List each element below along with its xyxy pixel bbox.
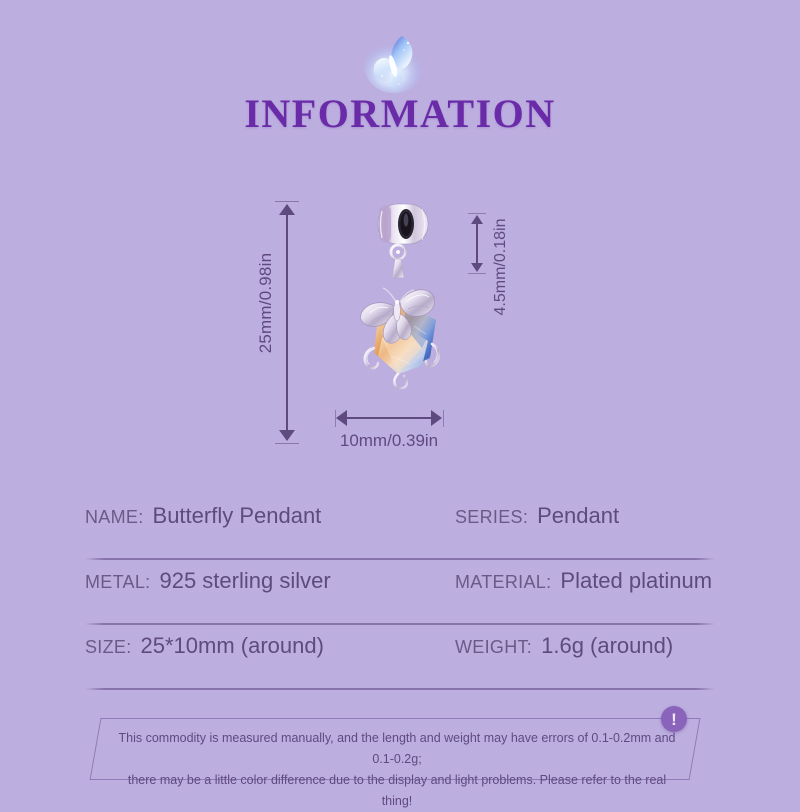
spec-row: NAME: Butterfly Pendant SERIES: Pendant bbox=[0, 495, 800, 560]
dimension-height-arrow-up bbox=[279, 204, 295, 215]
spec-name-label: NAME: bbox=[85, 507, 144, 528]
dimension-height-arrow-down bbox=[279, 430, 295, 441]
dimension-bail-tick-top bbox=[468, 213, 486, 214]
spec-divider bbox=[85, 688, 715, 690]
dimension-height-label: 25mm/0.98in bbox=[256, 223, 276, 383]
spec-weight-label: WEIGHT: bbox=[455, 637, 532, 658]
spec-weight: WEIGHT: 1.6g (around) bbox=[455, 633, 673, 659]
disclaimer-line-2: there may be a little color difference d… bbox=[117, 770, 677, 812]
dimension-width-arrow-right bbox=[431, 410, 442, 426]
dimension-bail-label: 4.5mm/0.18in bbox=[492, 207, 510, 327]
butterfly-pendant-photo bbox=[348, 198, 456, 408]
spec-series: SERIES: Pendant bbox=[455, 503, 619, 529]
dimension-width-label: 10mm/0.39in bbox=[314, 431, 464, 451]
spec-metal-value: 925 sterling silver bbox=[159, 568, 330, 594]
dimension-width-tick-right bbox=[443, 410, 444, 427]
dimension-bail-arrow-up bbox=[471, 215, 483, 224]
product-measurement-area: 25mm/0.98in 4.5mm/0.18in bbox=[0, 160, 800, 490]
spec-size-value: 25*10mm (around) bbox=[141, 633, 324, 659]
dimension-bail-tick-bottom bbox=[468, 273, 486, 274]
butterfly-icon bbox=[358, 26, 434, 98]
page-title: INFORMATION bbox=[0, 90, 800, 137]
dimension-bail-line bbox=[476, 222, 478, 268]
dimension-height-line bbox=[286, 205, 288, 440]
spec-weight-value: 1.6g (around) bbox=[541, 633, 673, 659]
spec-material-label: MATERIAL: bbox=[455, 572, 551, 593]
dimension-width-line bbox=[344, 417, 438, 419]
dimension-height-tick-top bbox=[275, 201, 299, 202]
exclamation-icon: ! bbox=[661, 706, 687, 732]
dimension-bail-arrow-down bbox=[471, 263, 483, 272]
spec-series-value: Pendant bbox=[537, 503, 619, 529]
dimension-height: 25mm/0.98in bbox=[248, 205, 304, 440]
dimension-bail-height: 4.5mm/0.18in bbox=[466, 208, 522, 318]
spec-metal-label: METAL: bbox=[85, 572, 150, 593]
spec-row: METAL: 925 sterling silver MATERIAL: Pla… bbox=[0, 560, 800, 625]
spec-material-value: Plated platinum bbox=[560, 568, 712, 594]
spec-name: NAME: Butterfly Pendant bbox=[85, 503, 321, 529]
dimension-width-arrow-left bbox=[336, 410, 347, 426]
dimension-height-tick-bottom bbox=[275, 443, 299, 444]
page-header: INFORMATION bbox=[0, 0, 800, 160]
disclaimer: This commodity is measured manually, and… bbox=[95, 718, 695, 780]
dimension-width: 10mm/0.39in bbox=[340, 405, 460, 455]
spec-series-label: SERIES: bbox=[455, 507, 528, 528]
specification-list: NAME: Butterfly Pendant SERIES: Pendant … bbox=[0, 495, 800, 690]
disclaimer-line-1: This commodity is measured manually, and… bbox=[117, 728, 677, 770]
spec-name-value: Butterfly Pendant bbox=[153, 503, 322, 529]
disclaimer-text: This commodity is measured manually, and… bbox=[117, 728, 677, 812]
spec-row: SIZE: 25*10mm (around) WEIGHT: 1.6g (aro… bbox=[0, 625, 800, 690]
exclamation-glyph: ! bbox=[671, 711, 677, 728]
spec-metal: METAL: 925 sterling silver bbox=[85, 568, 331, 594]
spec-size-label: SIZE: bbox=[85, 637, 132, 658]
spec-size: SIZE: 25*10mm (around) bbox=[85, 633, 324, 659]
spec-material: MATERIAL: Plated platinum bbox=[455, 568, 712, 594]
